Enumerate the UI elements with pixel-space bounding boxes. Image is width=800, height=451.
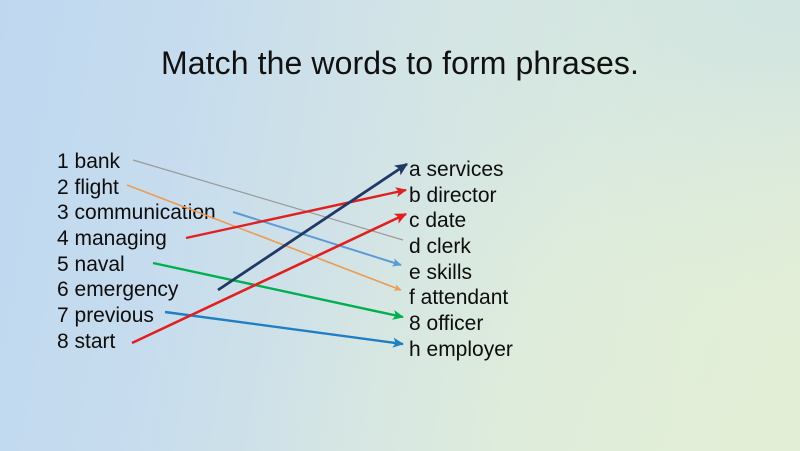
list-item[interactable]: e skills xyxy=(409,260,513,286)
list-item[interactable]: d clerk xyxy=(409,234,513,260)
list-item[interactable]: a services xyxy=(409,157,513,183)
list-item[interactable]: 7 previous xyxy=(57,303,216,329)
page-title: Match the words to form phrases. xyxy=(0,43,800,83)
list-item[interactable]: 3 communication xyxy=(57,200,216,226)
list-item[interactable]: c date xyxy=(409,208,513,234)
list-item[interactable]: 8 officer xyxy=(409,311,513,337)
connector-emergency-to-services[interactable] xyxy=(218,164,407,290)
list-item[interactable]: h employer xyxy=(409,337,513,363)
list-item[interactable]: 6 emergency xyxy=(57,277,216,303)
connector-managing-to-director[interactable] xyxy=(186,190,406,238)
list-item[interactable]: f attendant xyxy=(409,285,513,311)
connector-communication-to-skills[interactable] xyxy=(233,212,401,265)
list-item[interactable]: 2 flight xyxy=(57,175,216,201)
list-item[interactable]: b director xyxy=(409,183,513,209)
right-word-column: a services b director c date d clerk e s… xyxy=(409,157,513,363)
list-item[interactable]: 5 naval xyxy=(57,252,216,278)
list-item[interactable]: 1 bank xyxy=(57,149,216,175)
left-word-column: 1 bank 2 flight 3 communication 4 managi… xyxy=(57,149,216,355)
list-item[interactable]: 4 managing xyxy=(57,226,216,252)
list-item[interactable]: 8 start xyxy=(57,329,216,355)
slide-canvas: Match the words to form phrases. 1 bank … xyxy=(0,0,800,451)
